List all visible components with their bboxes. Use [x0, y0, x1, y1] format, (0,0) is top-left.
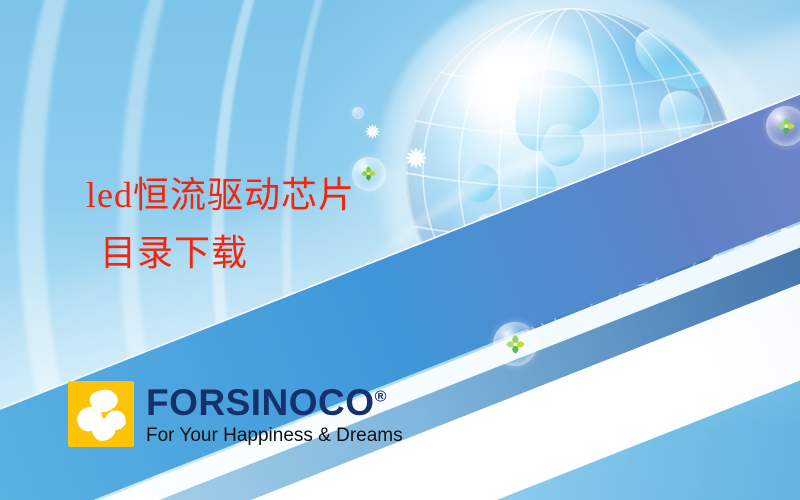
brand-logo: FORSINOCO® For Your Happiness & Dreams [68, 381, 403, 447]
headline-text: led恒流驱动芯片 目录下载 [86, 166, 355, 282]
logo-text-block: FORSINOCO® For Your Happiness & Dreams [146, 384, 403, 445]
poster-banner: led恒流驱动芯片 目录下载 FORSINOCO® For Your Happi… [0, 0, 800, 500]
pinwheel-icon [359, 164, 378, 183]
bubble-small-top [352, 107, 364, 119]
sparkle-flower-lower-icon [403, 145, 429, 171]
headline-line-2: 目录下载 [100, 224, 355, 282]
headline-line-1: led恒流驱动芯片 [86, 175, 355, 215]
logo-name-text: FORSINOCO [146, 382, 375, 423]
bubble-pinwheel-right [766, 106, 800, 146]
sparkle-flower-upper-icon [363, 122, 382, 141]
registered-trademark-icon: ® [375, 388, 387, 405]
bubble-pinwheel-left [352, 157, 386, 191]
pinwheel-icon [503, 332, 528, 357]
logo-tagline: For Your Happiness & Dreams [146, 426, 403, 445]
four-petal-pinwheel-icon [68, 381, 134, 447]
bubble-pinwheel-lower [493, 322, 537, 366]
pinwheel-icon [775, 115, 797, 137]
logo-mark [68, 381, 134, 447]
logo-wordmark: FORSINOCO® [146, 384, 403, 421]
